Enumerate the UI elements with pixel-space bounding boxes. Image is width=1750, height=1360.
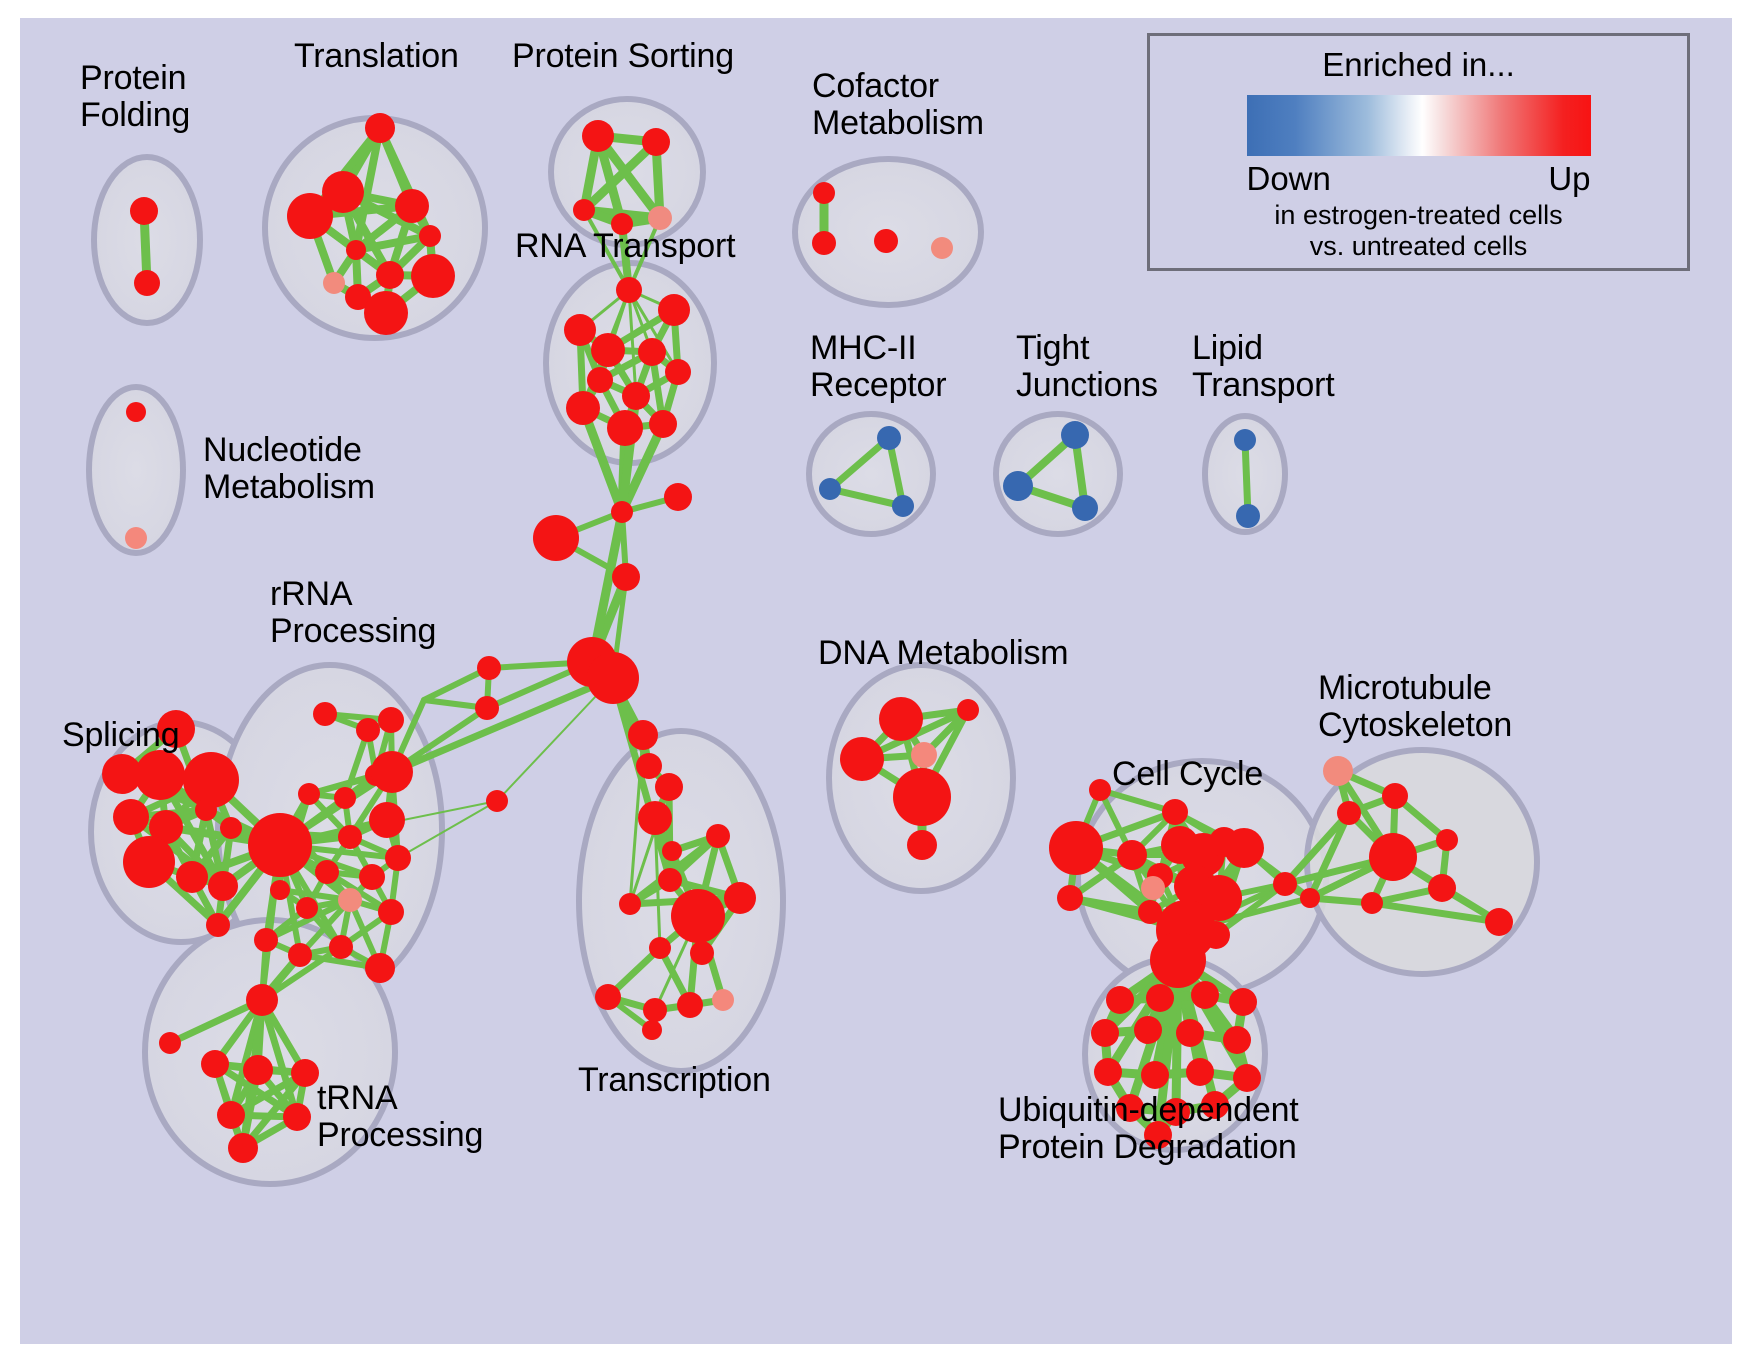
cluster-label-splicing: Splicing	[62, 717, 179, 754]
legend-endpoints: Down Up	[1247, 160, 1591, 198]
legend-subtitle-line2: vs. untreated cells	[1274, 231, 1562, 262]
cluster-label-cofactor-metabolism: Cofactor Metabolism	[812, 68, 984, 141]
cluster-label-nucleotide-metabolism: Nucleotide Metabolism	[203, 432, 375, 505]
legend-right-label: Up	[1548, 160, 1590, 198]
legend-left-label: Down	[1247, 160, 1331, 198]
legend-subtitle-line1: in estrogen-treated cells	[1274, 200, 1562, 231]
legend-title: Enriched in...	[1322, 46, 1515, 84]
legend: Enriched in... Down Up in estrogen-treat…	[1147, 33, 1690, 271]
cluster-label-tight-junctions: Tight Junctions	[1016, 330, 1158, 403]
cluster-label-cell-cycle: Cell Cycle	[1112, 756, 1263, 793]
cluster-label-rna-transport: RNA Transport	[515, 228, 735, 265]
cluster-label-protein-folding: Protein Folding	[80, 60, 190, 133]
cluster-label-mhc-ii-receptor: MHC-II Receptor	[810, 330, 946, 403]
cluster-label-protein-sorting: Protein Sorting	[512, 38, 734, 75]
hull-mhc-ii-receptor	[809, 414, 933, 534]
cluster-label-transcription: Transcription	[578, 1062, 771, 1099]
cluster-label-lipid-transport: Lipid Transport	[1192, 330, 1334, 403]
cluster-label-ubiquitin-protein-degradation: Ubiquitin-dependent Protein Degradation	[998, 1092, 1299, 1165]
legend-subtitle: in estrogen-treated cells vs. untreated …	[1274, 200, 1562, 262]
cluster-label-microtubule-cytoskeleton: Microtubule Cytoskeleton	[1318, 670, 1512, 743]
cluster-label-dna-metabolism: DNA Metabolism	[818, 635, 1068, 672]
cluster-label-rrna-processing: rRNA Processing	[270, 576, 436, 649]
network-figure: Protein Folding Translation Protein Sort…	[0, 0, 1750, 1360]
cluster-label-trna-processing: tRNA Processing	[317, 1080, 483, 1153]
legend-colorbar	[1247, 95, 1591, 156]
cluster-label-translation: Translation	[294, 38, 459, 75]
